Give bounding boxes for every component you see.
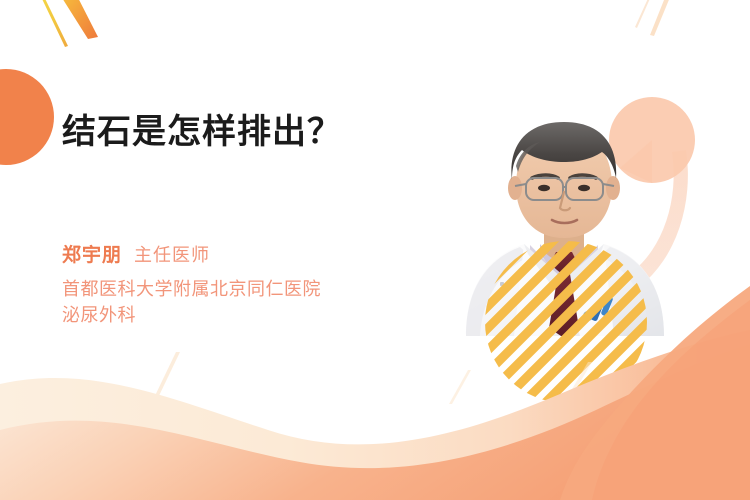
- doctor-name-row: 郑宇朋主任医师: [62, 246, 462, 265]
- doctor-professional-title: 主任医师: [134, 245, 210, 265]
- doctor-name: 郑宇朋: [62, 245, 122, 266]
- bottom-wave-cream: [0, 330, 750, 500]
- orange-circle-left: [0, 69, 54, 165]
- doctor-hospital: 首都医科大学附属北京同仁医院: [62, 276, 462, 302]
- doctor-portrait-image: [452, 104, 676, 336]
- diagonal-stripes-top-left: [33, 0, 98, 47]
- bottom-wave-salmon: [0, 344, 750, 500]
- title-block: 结石是怎样排出？: [62, 112, 432, 153]
- diagonal-stripe-bottom-center: [449, 362, 592, 404]
- doctor-info-block: 郑宇朋主任医师 首都医科大学附属北京同仁医院 泌尿外科: [62, 246, 462, 328]
- diagonal-stripes-top-right: [635, 0, 673, 36]
- promo-slide: 结石是怎样排出？ 郑宇朋主任医师 首都医科大学附属北京同仁医院 泌尿外科: [0, 0, 750, 500]
- doctor-department: 泌尿外科: [62, 302, 462, 328]
- page-title: 结石是怎样排出？: [62, 112, 432, 153]
- diagonal-stripe-bottom-left: [152, 352, 180, 402]
